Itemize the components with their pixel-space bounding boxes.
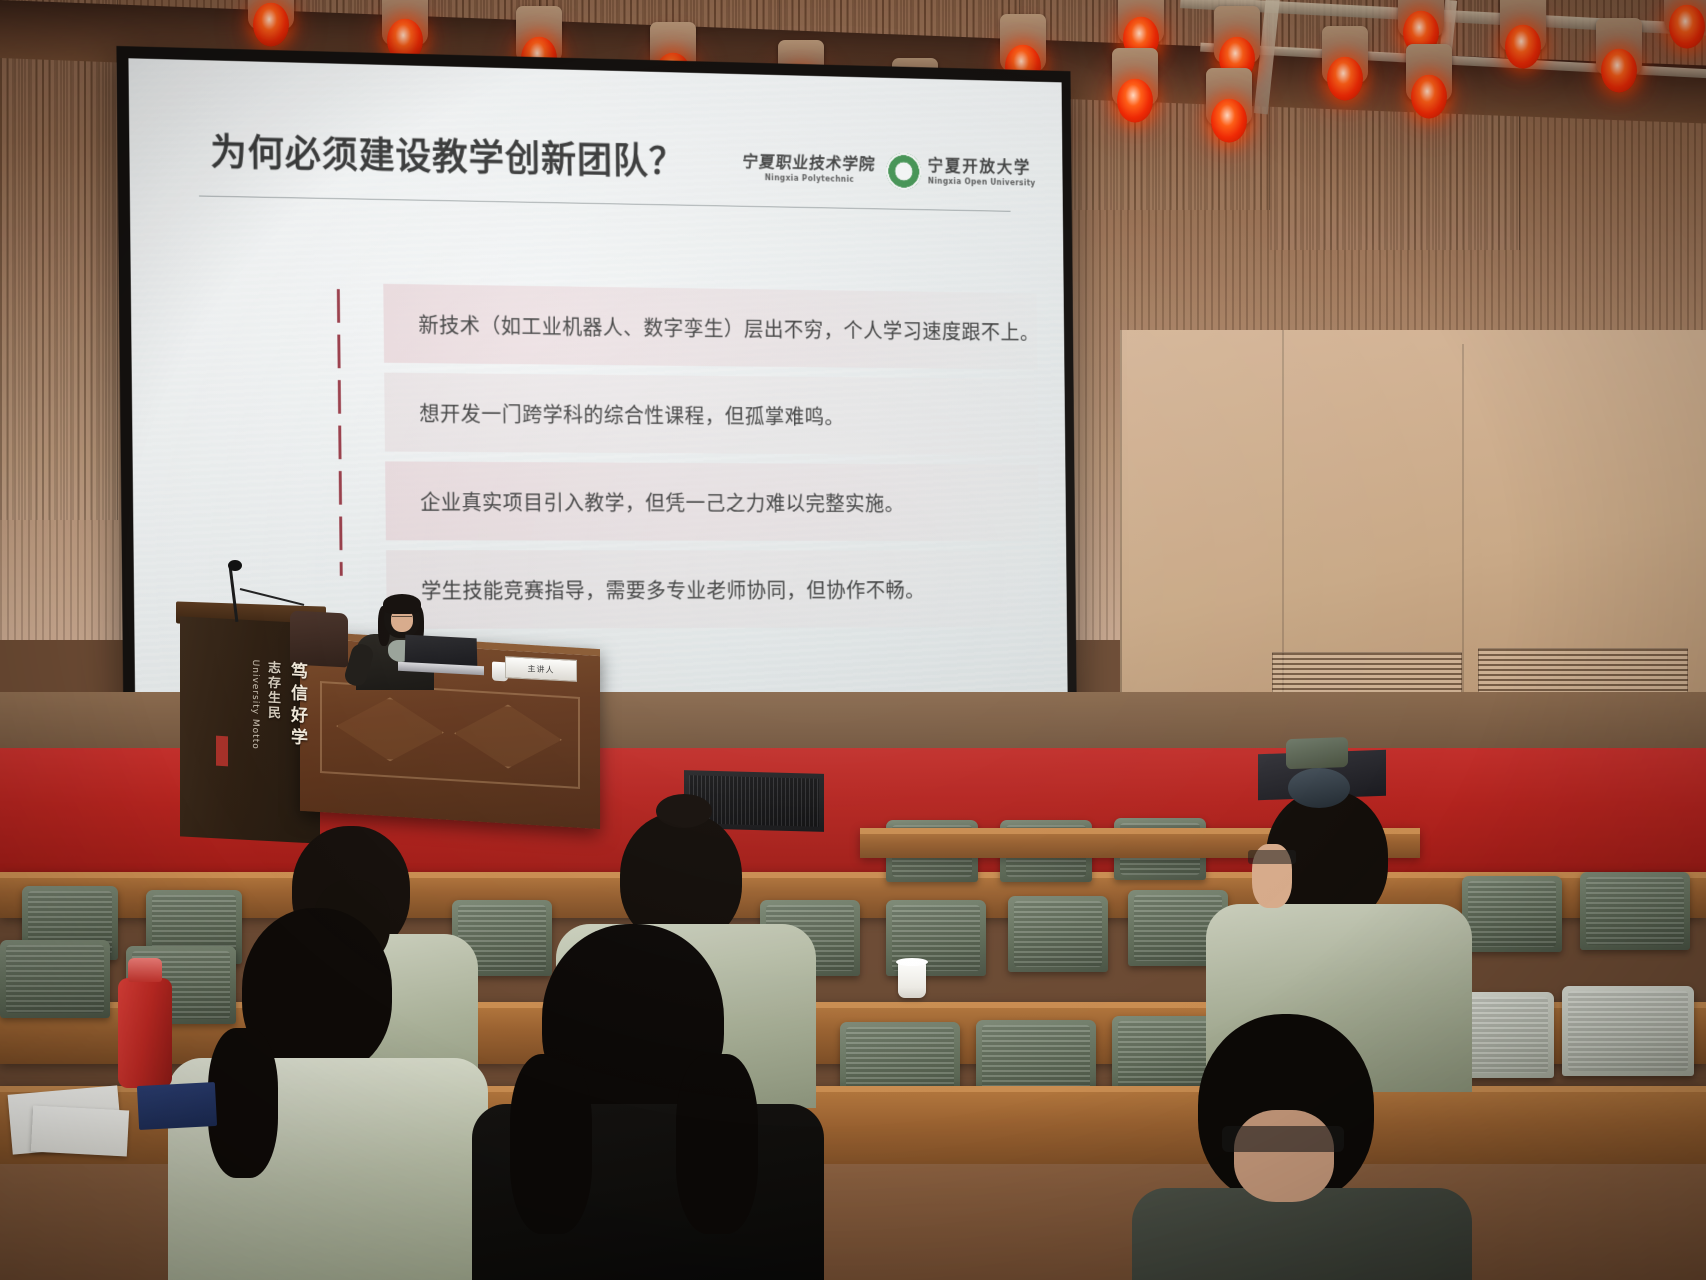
slide-bullet-list: 新技术（如工业机器人、数字孪生）层出不穷，个人学习速度跟不上。 想开发一门跨学科… [383, 284, 1040, 629]
wall-panel-6 [1270, 0, 1520, 250]
university-emblem-icon [887, 153, 922, 190]
podium-calligraphy: 笃信好学 志存生民 University Motto [214, 657, 310, 812]
red-stage-light [382, 0, 428, 46]
red-stage-light [516, 6, 562, 64]
slide-bullet-item: 新技术（如工业机器人、数字孪生）层出不穷，个人学习速度跟不上。 [383, 284, 1037, 370]
podium-motto-en: University Motto [250, 659, 260, 810]
accent-dashed-bar [337, 289, 343, 576]
red-stage-light [1214, 6, 1260, 64]
slide-logos: 宁夏职业技术学院 Ningxia Polytechnic 宁夏开放大学 Ning… [742, 150, 1035, 193]
microphone-head-icon [228, 560, 242, 571]
red-stage-light [1664, 0, 1706, 32]
red-stage-light [1596, 18, 1642, 76]
red-stage-light [1398, 0, 1444, 38]
red-stage-light [248, 0, 294, 30]
red-stage-light [1322, 26, 1368, 84]
slide-bullet-item: 学生技能竞赛指导，需要多专业老师协同，但协作不畅。 [386, 550, 1040, 629]
blue-folder [137, 1082, 217, 1130]
logo-cn-name: 宁夏开放大学 [928, 158, 1036, 177]
speaker-glasses-icon [392, 616, 412, 622]
podium-motto-main: 笃信好学 [285, 661, 310, 812]
podium-motto-second: 志存生民 [263, 660, 282, 811]
red-stage-light [1000, 14, 1046, 72]
logo-cn-name: 宁夏职业技术学院 [742, 154, 877, 173]
speaker-hair-front [383, 594, 421, 614]
equipment-bag [1286, 737, 1348, 769]
paper-sheet [31, 1106, 129, 1157]
desk-diamond-right [454, 701, 562, 772]
slide-title: 为何必须建设教学创新团队？ [210, 122, 685, 185]
speaker-nameplate: 主讲人 [505, 656, 577, 682]
audience-seat [1580, 872, 1690, 950]
audience-seat [1562, 986, 1694, 1076]
red-stage-light [1500, 0, 1546, 52]
wall-panel-1 [0, 0, 118, 520]
paper-cup [898, 962, 926, 998]
slide-bullet-item: 想开发一门跨学科的综合性课程，但孤掌难鸣。 [384, 373, 1038, 456]
red-stage-light [1206, 68, 1252, 126]
audience-seat [0, 940, 110, 1018]
title-divider [199, 196, 1011, 212]
slide-bullet-item: 企业真实项目引入教学，但凭一己之力难以完整实施。 [385, 461, 1039, 541]
logo-ningxia-polytechnic: 宁夏职业技术学院 Ningxia Polytechnic [743, 154, 876, 184]
auditorium-scene: 为何必须建设教学创新团队？ 宁夏职业技术学院 Ningxia Polytechn… [0, 0, 1706, 1280]
speaker-chair [290, 610, 348, 667]
audience-seat [1462, 876, 1562, 952]
logo-en-name: Ningxia Open University [928, 178, 1036, 188]
red-stage-light [1112, 48, 1158, 106]
audience-seat [1008, 896, 1108, 972]
red-stage-light [1406, 44, 1452, 102]
logo-en-name: Ningxia Polytechnic [765, 174, 854, 184]
desk-panel [320, 681, 580, 789]
desk-diamond-left [336, 694, 444, 765]
red-stage-light [1118, 0, 1164, 44]
water-bottle [118, 978, 172, 1088]
logo-ningxia-open-university: 宁夏开放大学 Ningxia Open University [887, 153, 1036, 192]
